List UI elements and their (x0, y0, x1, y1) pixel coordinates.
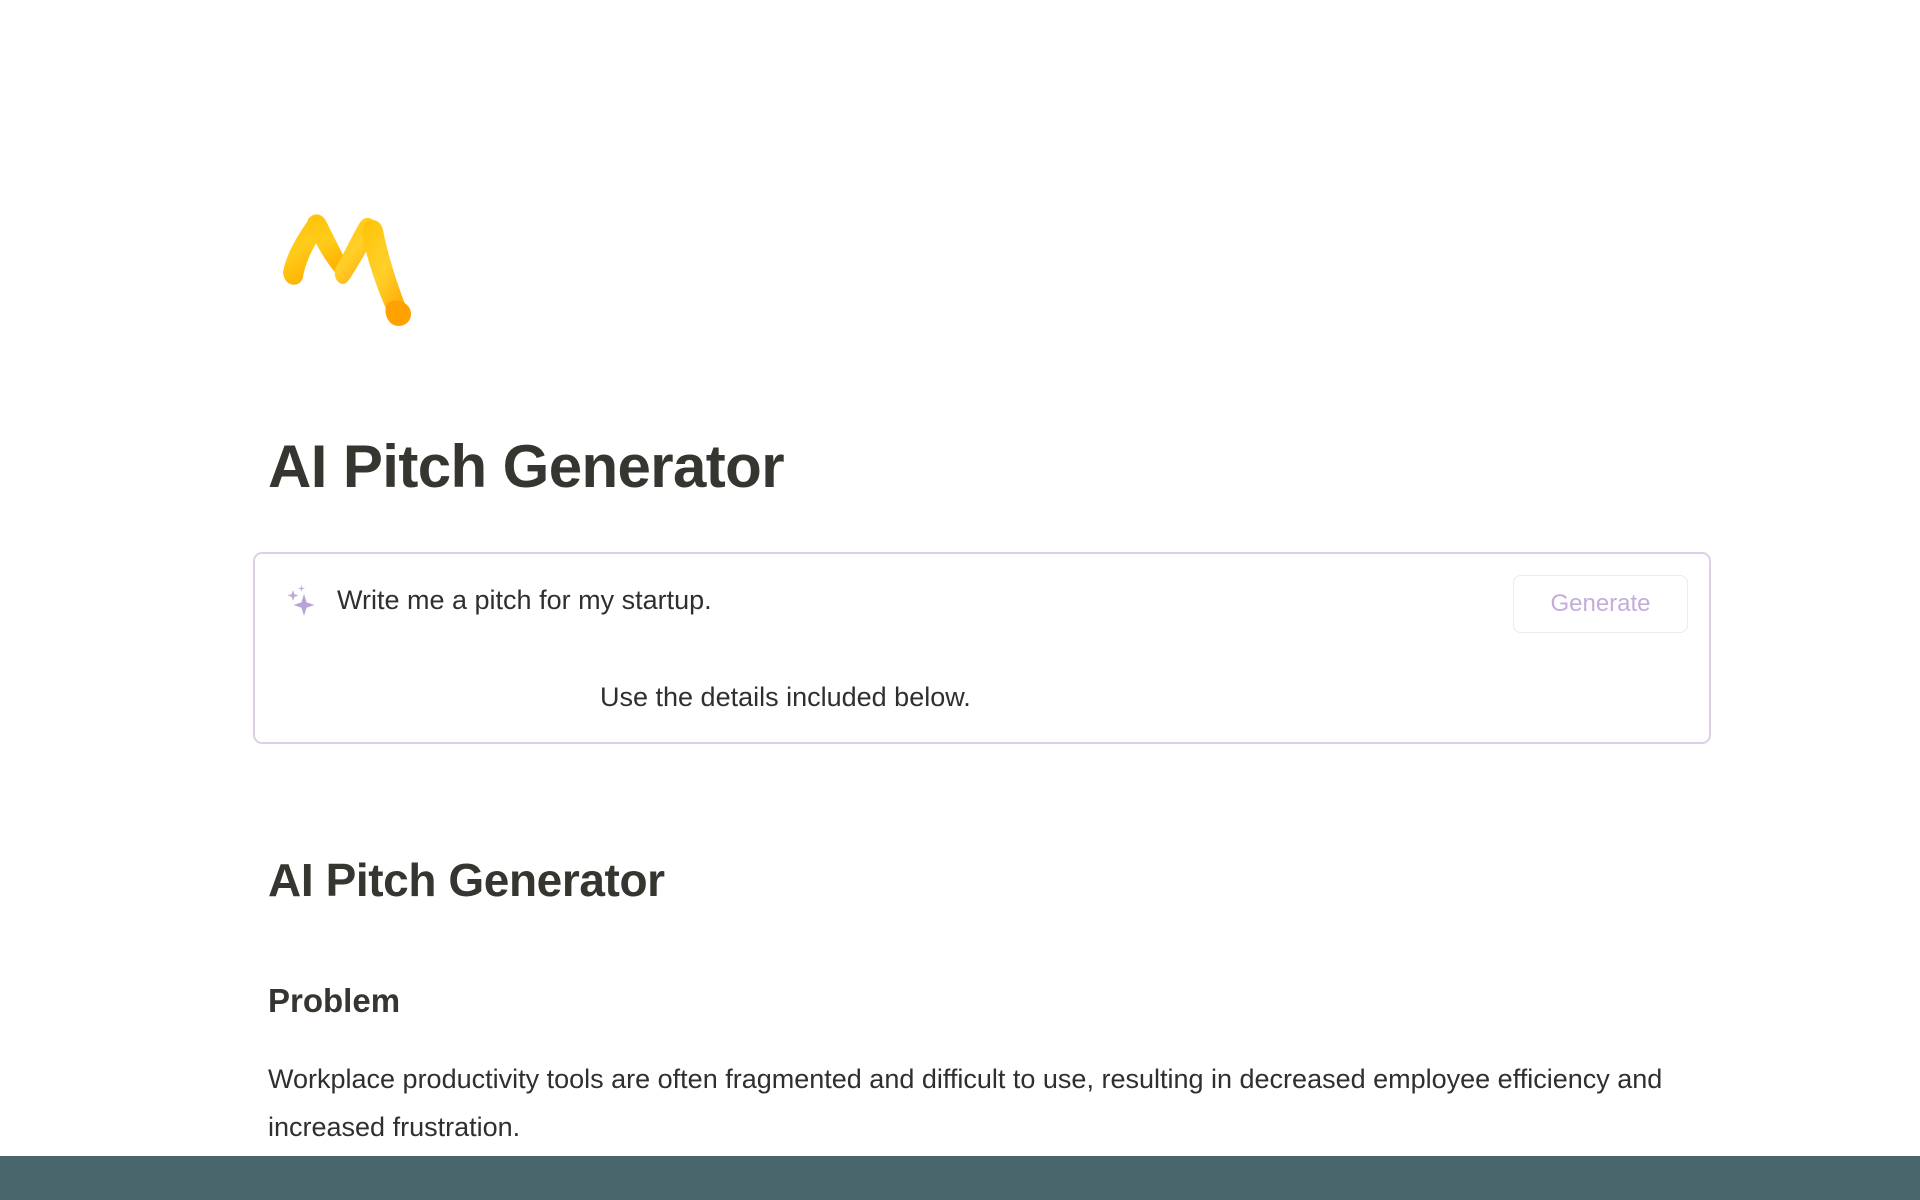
notion-m-logo-icon (270, 193, 430, 333)
ai-prompt-card[interactable]: Write me a pitch for my startup. Use the… (253, 552, 1711, 744)
ai-sparkle-icon (285, 584, 319, 618)
generate-button[interactable]: Generate (1513, 575, 1688, 633)
page-title: AI Pitch Generator (268, 432, 784, 502)
prompt-text-line-1: Write me a pitch for my startup. (337, 581, 712, 619)
section-heading-problem: Problem (268, 980, 400, 1022)
prompt-first-line-row: Write me a pitch for my startup. (285, 581, 712, 619)
section-body-problem: Workplace productivity tools are often f… (268, 1055, 1668, 1151)
document-title: AI Pitch Generator (268, 852, 665, 908)
prompt-text-line-2: Use the details included below. (600, 678, 971, 716)
page-root: AI Pitch Generator Write me a pitch for … (0, 0, 1920, 1200)
bottom-bar (0, 1156, 1920, 1200)
